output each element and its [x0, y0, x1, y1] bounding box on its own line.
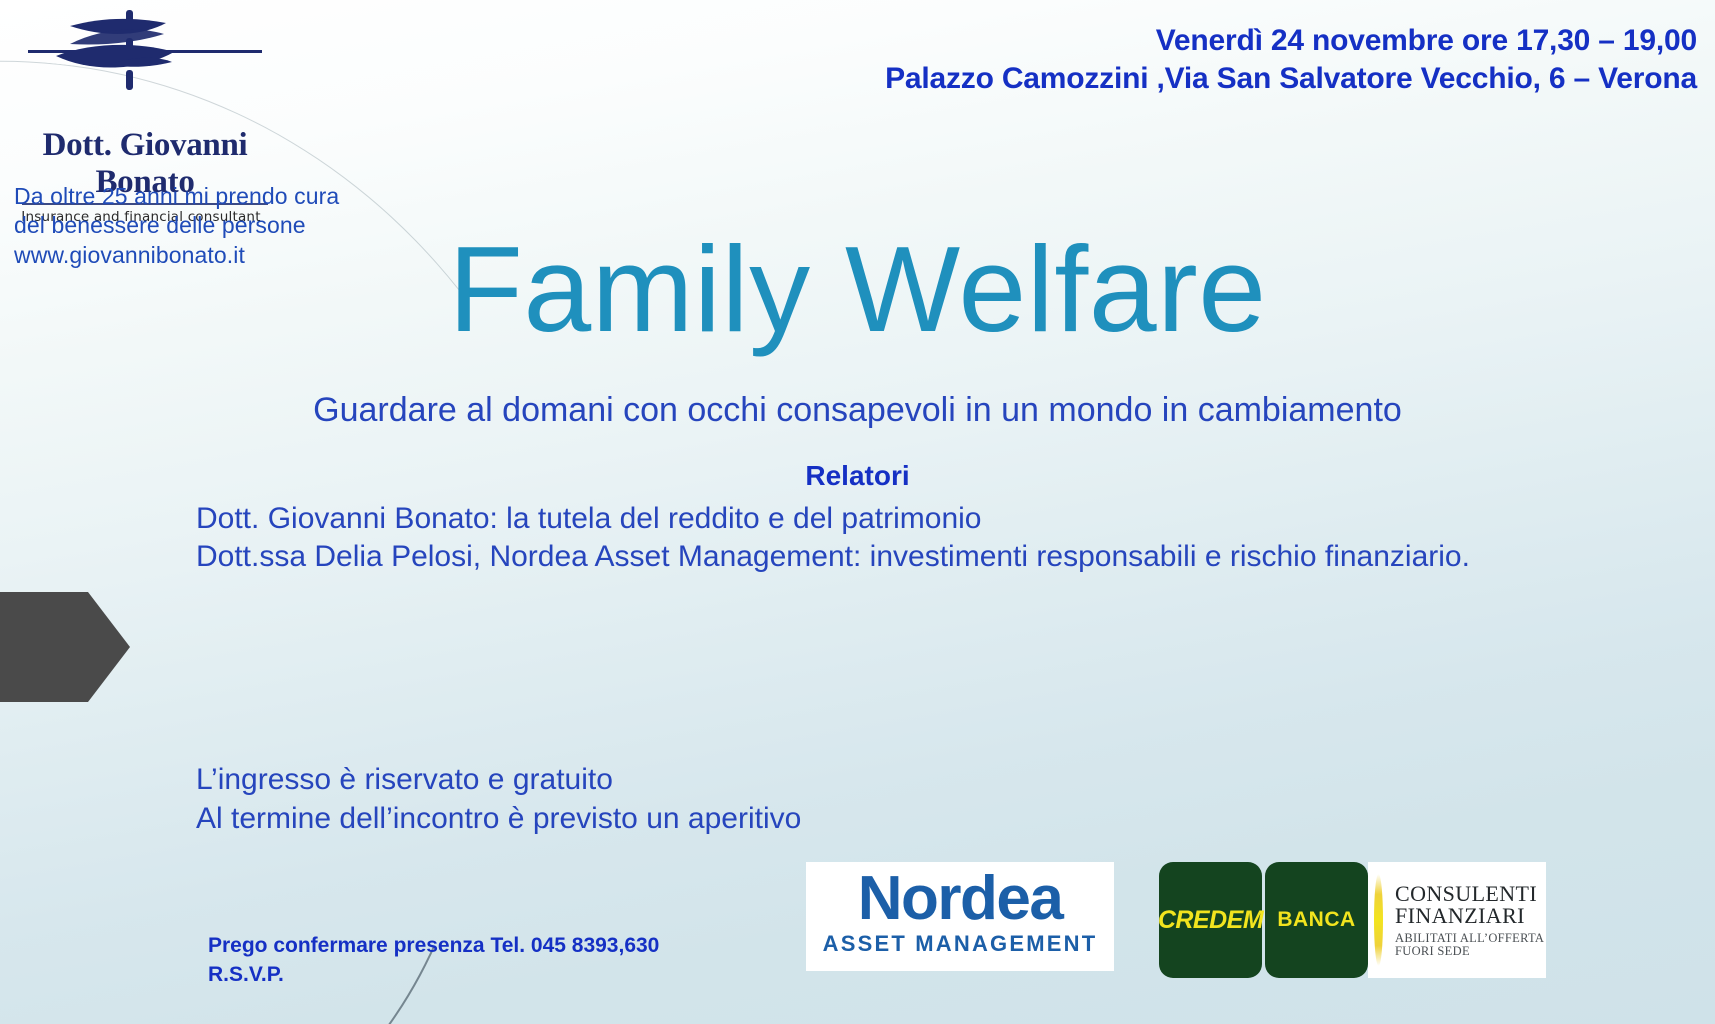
consulenti-line-3: ABILITATI ALL’OFFERTA: [1395, 932, 1544, 945]
list-item: Dott. Giovanni Bonato: la tutela del red…: [196, 500, 1470, 538]
event-datetime: Venerdì 24 novembre ore 17,30 – 19,00: [885, 24, 1697, 58]
banca-wordmark: BANCA: [1277, 908, 1355, 932]
bonato-emblem-icon: [14, 6, 276, 131]
banca-tile: BANCA: [1265, 862, 1368, 978]
event-header: Venerdì 24 novembre ore 17,30 – 19,00 Pa…: [885, 24, 1697, 95]
credem-wordmark: CREDEM: [1158, 906, 1263, 935]
admission-note: L’ingresso è riservato e gratuito Al ter…: [196, 760, 801, 838]
rsvp-block: Prego confermare presenza Tel. 045 8393,…: [208, 932, 659, 990]
credem-banca-logo: CREDEM BANCA CONSULENTI FINANZIARI ABILI…: [1159, 862, 1546, 978]
admission-line-2: Al termine dell’incontro è previsto un a…: [196, 799, 801, 838]
list-item: Dott.ssa Delia Pelosi, Nordea Asset Mana…: [196, 538, 1470, 576]
consulenti-line-4: FUORI SEDE: [1395, 945, 1544, 958]
flyer-slide: Dott. Giovanni Bonato Insurance and fina…: [0, 0, 1715, 1024]
page-subtitle: Guardare al domani con occhi consapevoli…: [0, 392, 1715, 429]
page-title: Family Welfare: [0, 228, 1715, 350]
credem-tile: CREDEM: [1159, 862, 1262, 978]
nordea-wordmark: Nordea: [806, 870, 1114, 929]
nordea-tagline: ASSET MANAGEMENT: [806, 931, 1114, 957]
consulenti-finanziari-logo: CONSULENTI FINANZIARI ABILITATI ALL’OFFE…: [1368, 862, 1546, 978]
speakers-list: Dott. Giovanni Bonato: la tutela del red…: [196, 500, 1470, 576]
flame-icon: [1374, 874, 1383, 966]
event-venue: Palazzo Camozzini ,Via San Salvatore Vec…: [885, 62, 1697, 96]
speakers-heading: Relatori: [0, 460, 1715, 492]
tagline-line-1: Da oltre 25 anni mi prendo cura: [14, 182, 339, 211]
nordea-logo: Nordea ASSET MANAGEMENT: [806, 862, 1114, 971]
admission-line-1: L’ingresso è riservato e gratuito: [196, 760, 801, 799]
consulenti-line-1: CONSULENTI: [1395, 883, 1544, 905]
consulenti-line-2: FINANZIARI: [1395, 905, 1544, 927]
decorative-chevron-shape: [0, 592, 130, 702]
rsvp-label: R.S.V.P.: [208, 961, 659, 990]
rsvp-phone: Prego confermare presenza Tel. 045 8393,…: [208, 932, 659, 961]
sponsor-logos: Nordea ASSET MANAGEMENT CREDEM BANCA CON…: [806, 862, 1546, 978]
